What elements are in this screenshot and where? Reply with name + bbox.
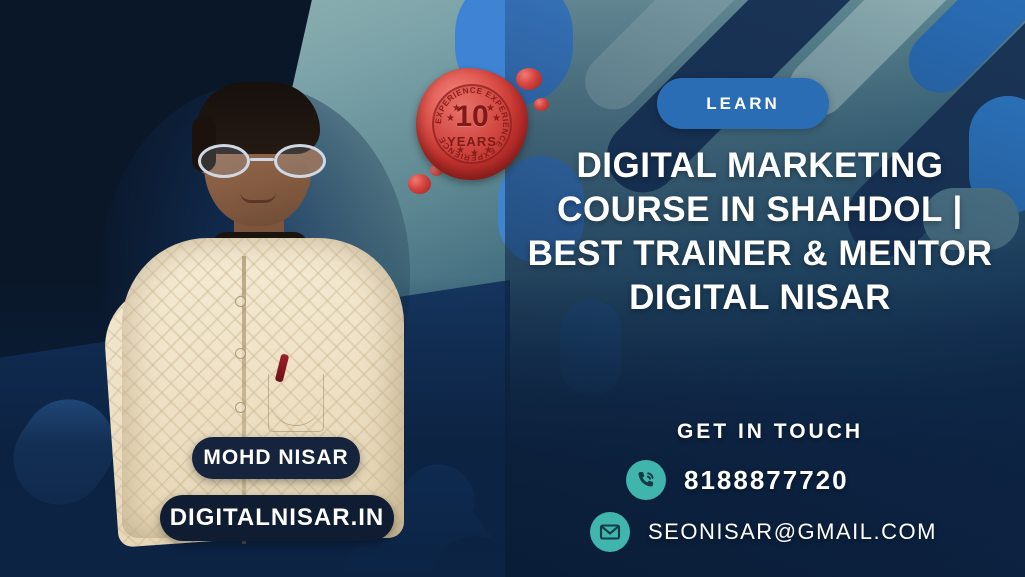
phone-contact-row[interactable]: 8188877720 (560, 460, 980, 500)
seal-years-label: YEARS (432, 134, 512, 149)
seal-star-icon: ★ (470, 149, 479, 159)
seal-years-number: 10 (432, 102, 512, 132)
portrait-sherwani (122, 238, 404, 538)
wax-seal-inner: EXPERIENCE EXPERIENCE EXPERIENCE ★ ★ ★ ★… (432, 84, 512, 164)
website-badge[interactable]: DIGITALNISAR.IN (160, 495, 394, 541)
headline-line-1: DIGITAL MARKETING (520, 144, 1000, 188)
wax-drip (516, 68, 542, 90)
headline-line-2: COURSE IN SHAHDOL | (520, 188, 1000, 232)
email-address: SEONISAR@GMAIL.COM (648, 519, 937, 545)
glasses-icon (192, 144, 332, 178)
phone-icon (626, 460, 666, 500)
contact-section: GET IN TOUCH 8188877720 SEONISAR@GMAIL.C… (560, 420, 980, 564)
portrait-button (235, 402, 246, 413)
phone-number: 8188877720 (684, 465, 849, 496)
learn-button[interactable]: LEARN (657, 78, 829, 129)
portrait-button (235, 348, 246, 359)
headline-line-3: BEST TRAINER & MENTOR (520, 232, 1000, 276)
person-name-badge: MOHD NISAR (192, 437, 360, 479)
wax-drip (408, 174, 431, 194)
portrait-smile (240, 192, 276, 203)
wax-seal-body: EXPERIENCE EXPERIENCE EXPERIENCE ★ ★ ★ ★… (416, 68, 528, 180)
page-title: DIGITAL MARKETING COURSE IN SHAHDOL | BE… (520, 144, 1000, 320)
headline-line-4: DIGITAL NISAR (520, 276, 1000, 320)
wax-drip (534, 98, 549, 111)
experience-seal-badge: EXPERIENCE EXPERIENCE EXPERIENCE ★ ★ ★ ★… (404, 54, 536, 190)
envelope-icon (590, 512, 630, 552)
glasses-lens-right (274, 144, 326, 178)
glasses-bridge (250, 158, 274, 161)
glasses-lens-left (198, 144, 250, 178)
promo-banner: EXPERIENCE EXPERIENCE EXPERIENCE ★ ★ ★ ★… (0, 0, 1025, 577)
contact-heading: GET IN TOUCH (560, 420, 980, 444)
portrait-button (235, 296, 246, 307)
email-contact-row[interactable]: SEONISAR@GMAIL.COM (560, 512, 980, 552)
